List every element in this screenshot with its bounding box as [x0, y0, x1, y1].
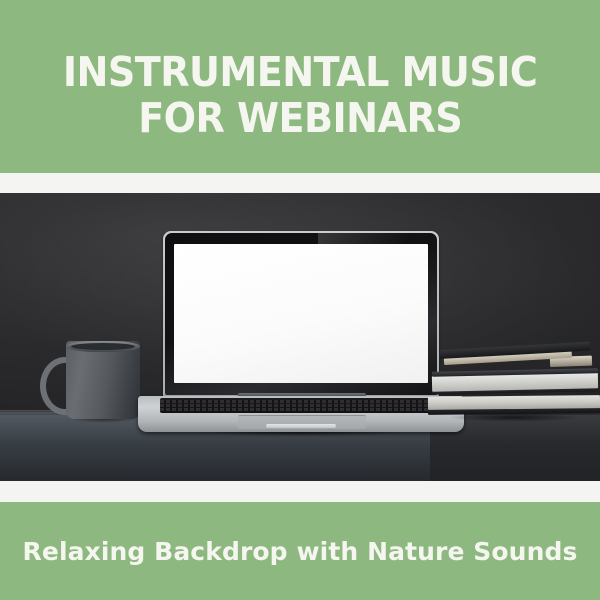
laptop	[138, 231, 464, 436]
book-bottom-pages	[428, 395, 600, 410]
laptop-front-latch	[266, 424, 336, 428]
subtitle-text: Relaxing Backdrop with Nature Sounds	[23, 537, 578, 566]
book-stack	[438, 344, 600, 434]
keyboard-row	[160, 408, 442, 411]
divider-bottom	[0, 481, 600, 502]
title-line-1: INSTRUMENTAL MUSIC	[63, 51, 537, 94]
subtitle-band: Relaxing Backdrop with Nature Sounds	[0, 502, 600, 600]
mug-rim-inner	[71, 343, 135, 350]
album-cover: INSTRUMENTAL MUSIC FOR WEBINARS	[0, 0, 600, 600]
keyboard-row	[160, 400, 442, 403]
mug	[38, 341, 148, 433]
title-line-2: FOR WEBINARS	[138, 97, 462, 140]
divider-top	[0, 173, 600, 193]
laptop-screen	[174, 244, 428, 383]
title-band: INSTRUMENTAL MUSIC FOR WEBINARS	[0, 0, 600, 173]
laptop-keyboard	[160, 398, 442, 413]
mug-body	[66, 341, 140, 419]
keyboard-row	[160, 404, 442, 407]
cover-photo	[0, 193, 600, 481]
